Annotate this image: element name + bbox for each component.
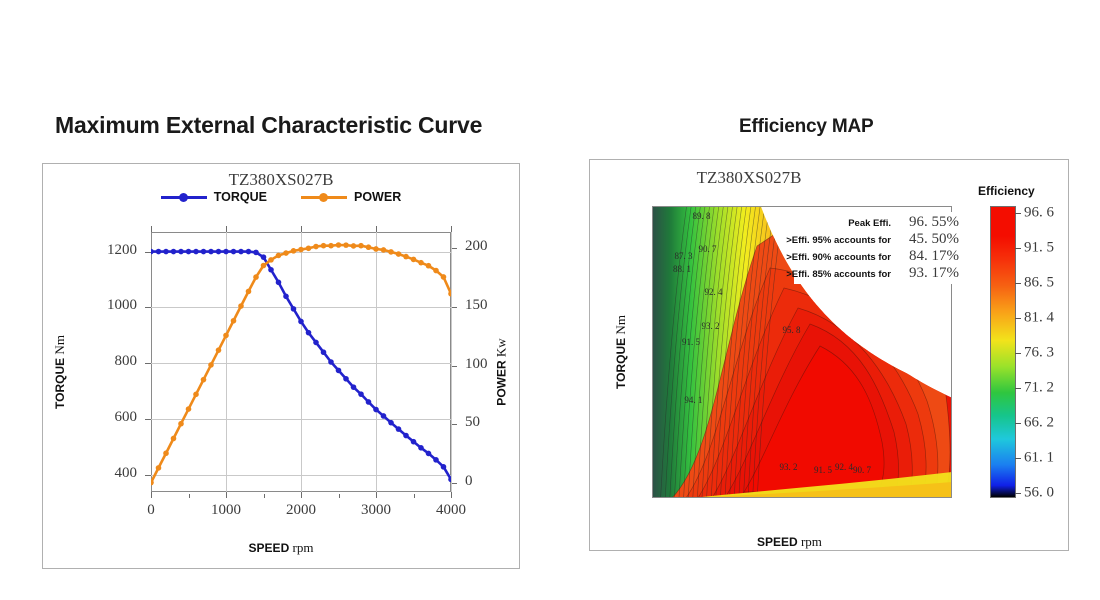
series-marker <box>433 268 439 274</box>
xaxis-tick-mark <box>451 226 452 232</box>
series-marker <box>433 457 439 463</box>
contour-label: 92. 4 <box>705 287 723 297</box>
series-marker <box>178 249 184 255</box>
colorbar-tick-label: 61. 1 <box>1024 450 1054 467</box>
xaxis-tick-mark <box>451 492 452 498</box>
yaxis2-tick-label: 100 <box>465 356 488 373</box>
right-chart-subtitle: TZ380XS027B <box>510 168 988 188</box>
legend-item-torque: TORQUE <box>161 190 267 204</box>
efficiency-summary-row: Peak Effi.96. 55% <box>797 214 959 231</box>
legend-item-label: TORQUE <box>214 190 267 204</box>
series-marker <box>208 362 214 368</box>
series-marker <box>328 359 334 365</box>
colorbar-tick <box>1015 423 1021 424</box>
colorbar-tick <box>1015 213 1021 214</box>
legend-swatch-icon <box>161 192 207 202</box>
axis-name-text: POWER <box>494 360 508 405</box>
series-marker <box>373 246 379 252</box>
series-marker <box>403 254 409 260</box>
xaxis-tick-label: 4000 <box>436 502 466 519</box>
series-marker <box>253 274 259 280</box>
series-marker <box>261 263 267 269</box>
series-marker <box>298 319 304 325</box>
series-marker <box>231 318 237 324</box>
xaxis-minor-tick <box>339 494 340 498</box>
series-layer <box>151 232 451 492</box>
left-xaxis-title: SPEED rpm <box>43 540 519 556</box>
xaxis-tick-mark <box>226 492 227 498</box>
efficiency-summary-row: >Effi. 85% accounts for93. 17% <box>797 265 959 282</box>
series-marker <box>238 249 244 255</box>
series-marker <box>441 274 447 280</box>
contour-label: 87. 3 <box>675 251 693 261</box>
contour-label: 91. 5 <box>682 337 700 347</box>
series-marker <box>291 248 297 254</box>
series-marker <box>171 436 177 442</box>
series-marker <box>163 249 169 255</box>
left-yaxis-title: TORQUE Nm <box>52 335 68 409</box>
axis-name-text: SPEED <box>757 535 798 549</box>
series-marker <box>276 280 282 286</box>
contour-label: 89. 8 <box>693 211 711 221</box>
series-marker <box>246 249 252 255</box>
series-marker <box>411 439 417 445</box>
series-marker <box>373 407 379 413</box>
colorbar-tick-label: 66. 2 <box>1024 415 1054 432</box>
series-marker <box>343 376 349 382</box>
axis-name-text: TORQUE <box>53 358 67 409</box>
colorbar-tick-label: 71. 2 <box>1024 380 1054 397</box>
legend-item-label: POWER <box>354 190 401 204</box>
series-marker <box>381 413 387 419</box>
xaxis-tick-mark <box>376 492 377 498</box>
series-marker <box>231 249 237 255</box>
series-marker <box>193 392 199 398</box>
colorbar-tick-label: 96. 6 <box>1024 205 1054 222</box>
contour-label: 90. 7 <box>853 465 871 475</box>
series-marker <box>163 450 169 456</box>
series-marker <box>216 347 222 353</box>
series-marker <box>351 243 357 249</box>
series-marker <box>336 242 342 248</box>
series-marker <box>253 250 259 256</box>
series-marker <box>151 249 154 255</box>
series-marker <box>201 249 207 255</box>
series-marker <box>276 253 282 259</box>
series-marker <box>283 294 289 300</box>
series-marker <box>283 250 289 256</box>
yaxis2-tick-label: 150 <box>465 297 488 314</box>
series-marker <box>418 260 424 266</box>
axis-unit-text: Kw <box>493 338 508 360</box>
contour-label: 92. 4 <box>835 462 853 472</box>
axis-name-text: SPEED <box>249 541 290 555</box>
yaxis2-tick-label: 200 <box>465 238 488 255</box>
series-marker <box>306 245 312 251</box>
series-marker <box>358 243 364 249</box>
colorbar-tick <box>1015 458 1021 459</box>
series-marker <box>313 340 319 346</box>
left-panel-heading: Maximum External Characteristic Curve <box>55 112 482 139</box>
efficiency-summary-label: >Effi. 95% accounts for <box>786 235 891 246</box>
series-marker <box>321 349 327 355</box>
axis-unit-text: Nm <box>52 335 67 358</box>
series-marker <box>246 289 252 295</box>
xaxis-tick-label: 2000 <box>286 502 316 519</box>
series-marker <box>223 249 229 255</box>
contour-label: 91. 5 <box>814 465 832 475</box>
contour-label: 88. 1 <box>673 264 691 274</box>
xaxis-tick-label: 1000 <box>211 502 241 519</box>
series-marker <box>336 368 342 374</box>
series-marker <box>381 247 387 253</box>
series-marker <box>441 464 447 470</box>
efficiency-summary-row: >Effi. 90% accounts for84. 17% <box>797 248 959 265</box>
yaxis-tick-label: 800 <box>115 353 138 370</box>
series-marker <box>426 451 432 457</box>
series-marker <box>411 257 417 263</box>
yaxis-tick-label: 1200 <box>107 242 137 259</box>
series-marker <box>171 249 177 255</box>
colorbar-tick <box>1015 248 1021 249</box>
contour-label: 90. 7 <box>699 244 717 254</box>
xaxis-minor-tick <box>414 494 415 498</box>
axis-unit-text: rpm <box>289 540 313 555</box>
colorbar-tick-label: 76. 3 <box>1024 345 1054 362</box>
left-chart-subtitle: TZ380XS027B <box>43 170 519 190</box>
yaxis-tick-label: 400 <box>115 465 138 482</box>
gridline-vertical <box>451 232 452 492</box>
max-characteristic-curve-panel: TZ380XS027B TORQUEPOWER 4006008001000120… <box>42 163 520 569</box>
efficiency-xaxis-title: SPEED rpm <box>757 534 822 550</box>
series-marker <box>156 249 162 255</box>
series-marker <box>343 242 349 248</box>
series-marker <box>291 306 297 312</box>
series-marker <box>366 244 372 250</box>
efficiency-summary-label: >Effi. 85% accounts for <box>786 269 891 280</box>
xaxis-tick-mark <box>151 492 152 498</box>
slide-canvas: Maximum External Characteristic Curve TZ… <box>0 0 1100 600</box>
efficiency-colorbar: 96. 691. 586. 581. 476. 371. 266. 261. 1… <box>990 206 1016 498</box>
series-marker <box>403 433 409 439</box>
series-line-power <box>151 245 451 483</box>
series-marker <box>313 244 319 250</box>
efficiency-summary-label: >Effi. 90% accounts for <box>786 252 891 263</box>
series-marker <box>268 257 274 263</box>
series-marker <box>448 291 451 297</box>
contour-label: 94. 1 <box>684 395 702 405</box>
series-marker <box>216 249 222 255</box>
series-marker <box>298 247 304 253</box>
series-marker <box>396 251 402 257</box>
efficiency-yaxis-title: TORQUE Nm <box>613 315 629 389</box>
colorbar-tick <box>1015 388 1021 389</box>
legend-item-power: POWER <box>301 190 401 204</box>
series-marker <box>418 445 424 451</box>
yaxis2-tick-label: 50 <box>465 414 480 431</box>
efficiency-summary-box: Peak Effi.96. 55%>Effi. 95% accounts for… <box>794 212 962 284</box>
contour-label: 93. 2 <box>702 321 720 331</box>
colorbar-tick <box>1015 493 1021 494</box>
series-marker <box>351 384 357 390</box>
efficiency-summary-value: 96. 55% <box>897 214 959 231</box>
efficiency-summary-value: 45. 50% <box>897 231 959 248</box>
efficiency-summary-row: >Effi. 95% accounts for45. 50% <box>797 231 959 248</box>
yaxis-tick-label: 1000 <box>107 297 137 314</box>
series-marker <box>208 249 214 255</box>
axis-unit-text: rpm <box>798 534 822 549</box>
right-panel-heading: Efficiency MAP <box>739 116 873 138</box>
series-marker <box>358 391 364 397</box>
colorbar-tick <box>1015 283 1021 284</box>
series-line-torque <box>151 252 451 480</box>
axis-unit-text: Nm <box>613 315 628 338</box>
xaxis-tick-label: 3000 <box>361 502 391 519</box>
series-marker <box>186 406 192 412</box>
colorbar-tick-label: 56. 0 <box>1024 485 1054 502</box>
series-marker <box>223 333 229 339</box>
axis-name-text: TORQUE <box>614 338 628 389</box>
series-marker <box>366 399 372 405</box>
series-marker <box>186 249 192 255</box>
left-chart-legend: TORQUEPOWER <box>43 190 519 204</box>
colorbar-title: Efficiency <box>978 184 1035 198</box>
colorbar-tick <box>1015 318 1021 319</box>
series-marker <box>426 263 432 269</box>
xaxis-minor-tick <box>264 494 265 498</box>
colorbar-tick <box>1015 353 1021 354</box>
xaxis-minor-tick <box>189 494 190 498</box>
yaxis2-tick-label: 0 <box>465 473 473 490</box>
series-marker <box>261 254 267 260</box>
series-marker <box>328 243 334 249</box>
efficiency-summary-value: 93. 17% <box>897 265 959 282</box>
efficiency-map-panel: TZ380XS027B 2004006008001000120010002000… <box>589 159 1069 551</box>
series-marker <box>388 249 394 255</box>
series-marker <box>388 420 394 426</box>
colorbar-tick-label: 91. 5 <box>1024 240 1054 257</box>
series-marker <box>396 426 402 432</box>
colorbar-tick-label: 86. 5 <box>1024 275 1054 292</box>
series-marker <box>156 465 162 471</box>
series-marker <box>193 249 199 255</box>
colorbar-tick-label: 81. 4 <box>1024 310 1054 327</box>
efficiency-summary-label: Peak Effi. <box>848 218 891 229</box>
xaxis-tick-mark <box>301 492 302 498</box>
series-marker <box>178 421 184 427</box>
right-yaxis-title: POWER Kw <box>493 338 509 405</box>
series-marker <box>321 243 327 249</box>
torque-power-plot-area: 4006008001000120005010015020001000200030… <box>151 232 451 492</box>
legend-swatch-icon <box>301 192 347 202</box>
xaxis-tick-label: 0 <box>147 502 155 519</box>
series-marker <box>201 377 207 383</box>
series-marker <box>268 267 274 273</box>
series-marker <box>238 303 244 309</box>
contour-label: 93. 2 <box>780 462 798 472</box>
efficiency-summary-value: 84. 17% <box>897 248 959 265</box>
series-marker <box>306 330 312 336</box>
contour-label: 95. 8 <box>783 325 801 335</box>
yaxis-tick-label: 600 <box>115 409 138 426</box>
